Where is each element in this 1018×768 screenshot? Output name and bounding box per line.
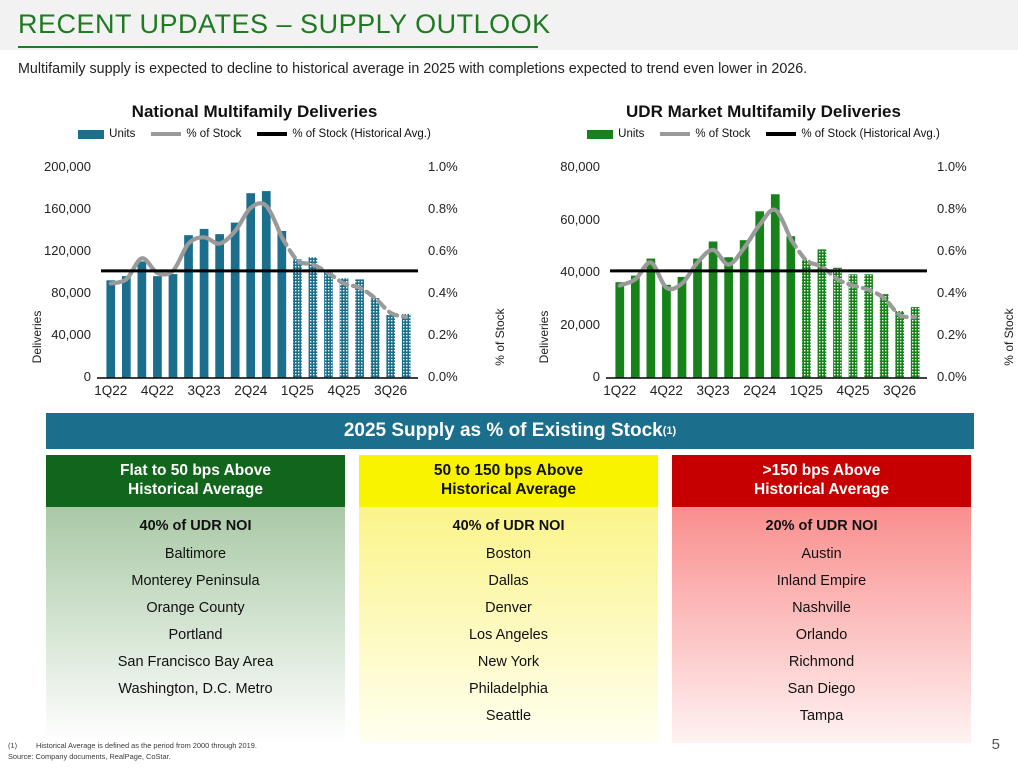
bar (802, 260, 811, 378)
y2-axis-tick-label: 0.6% (428, 243, 458, 258)
market-item: Richmond (672, 649, 971, 676)
bar (647, 259, 656, 378)
chart-panel-national: National Multifamily Deliveries Units % … (0, 100, 509, 396)
market-item: Los Angeles (359, 622, 658, 649)
footnote-body: Historical Average is defined as the per… (36, 741, 257, 750)
bar (277, 231, 286, 378)
bar (880, 294, 889, 378)
bar (184, 235, 193, 378)
market-item: Denver (359, 595, 658, 622)
column-noi-share: 40% of UDR NOI (46, 518, 345, 534)
market-item: Portland (46, 622, 345, 649)
market-list: BostonDallasDenverLos AngelesNew YorkPhi… (359, 541, 658, 730)
y2-axis-tick-label: 0.0% (428, 369, 458, 384)
column-body-green: 40% of UDR NOI BaltimoreMonterey Peninsu… (46, 507, 345, 743)
bar (678, 277, 687, 378)
y2-axis-tick-label: 0.6% (937, 243, 967, 258)
y2-axis-tick-label: 0.0% (937, 369, 967, 384)
bar (231, 223, 240, 378)
y2-axis-tick-label: 1.0% (428, 159, 458, 174)
bar (631, 276, 640, 378)
market-item: Inland Empire (672, 568, 971, 595)
y-axis-tick-label: 20,000 (509, 317, 600, 332)
bar (340, 278, 349, 378)
market-item: New York (359, 649, 658, 676)
bar (106, 280, 115, 378)
market-item: Monterey Peninsula (46, 568, 345, 595)
bar (895, 311, 904, 378)
column-header-line2: Historical Average (128, 481, 263, 500)
supply-banner-superscript: (1) (663, 425, 676, 437)
market-item: Tampa (672, 703, 971, 730)
bar (293, 259, 302, 378)
column-noi-share: 20% of UDR NOI (672, 518, 971, 534)
bar (215, 234, 224, 378)
market-item: San Francisco Bay Area (46, 649, 345, 676)
market-list: AustinInland EmpireNashvilleOrlandoRichm… (672, 541, 971, 730)
bar (615, 282, 624, 378)
y-axis-tick-label: 120,000 (0, 243, 91, 258)
bar (709, 242, 718, 379)
column-body-yellow: 40% of UDR NOI BostonDallasDenverLos Ang… (359, 507, 658, 743)
x-axis-tick-label: 3Q26 (870, 383, 930, 398)
market-item: San Diego (672, 676, 971, 703)
y2-axis-tick-label: 0.4% (428, 285, 458, 300)
column-header-green: Flat to 50 bps Above Historical Average (46, 455, 345, 507)
bar (262, 191, 271, 378)
bar (371, 298, 380, 378)
supply-column-yellow: 50 to 150 bps Above Historical Average 4… (359, 455, 658, 743)
market-item: Austin (672, 541, 971, 568)
bar (324, 271, 333, 378)
column-header-line1: Flat to 50 bps Above (120, 462, 271, 481)
y-axis-tick-label: 0 (509, 369, 600, 384)
pct-of-stock-line (620, 210, 791, 289)
y2-axis-tick-label: 0.4% (937, 285, 967, 300)
bar (786, 236, 795, 378)
column-header-line1: >150 bps Above (763, 462, 881, 481)
bar (740, 240, 749, 378)
market-item: Baltimore (46, 541, 345, 568)
chart-panel-udr: UDR Market Multifamily Deliveries Units … (509, 100, 1018, 396)
market-item: Dallas (359, 568, 658, 595)
market-item: Orange County (46, 595, 345, 622)
market-item: Orlando (672, 622, 971, 649)
y2-axis-tick-label: 0.8% (428, 201, 458, 216)
bar (355, 279, 364, 378)
y-axis-tick-label: 0 (0, 369, 91, 384)
market-list: BaltimoreMonterey PeninsulaOrange County… (46, 541, 345, 703)
column-header-red: >150 bps Above Historical Average (672, 455, 971, 507)
y-axis-tick-label: 200,000 (0, 159, 91, 174)
bar (662, 285, 671, 378)
market-item: Washington, D.C. Metro (46, 676, 345, 703)
column-header-line2: Historical Average (754, 481, 889, 500)
y-axis-tick-label: 60,000 (509, 212, 600, 227)
y-axis-tick-label: 40,000 (0, 327, 91, 342)
bar (138, 261, 147, 378)
supply-banner: 2025 Supply as % of Existing Stock(1) (46, 413, 974, 449)
footnote-source: Source: Company documents, RealPage, CoS… (8, 752, 171, 761)
bar (849, 274, 858, 378)
market-item: Nashville (672, 595, 971, 622)
y-axis-tick-label: 40,000 (509, 264, 600, 279)
bar (402, 314, 411, 378)
slide-subtitle: Multifamily supply is expected to declin… (18, 61, 1003, 77)
page-number: 5 (992, 736, 1000, 753)
y-axis-tick-label: 160,000 (0, 201, 91, 216)
bar (200, 229, 209, 378)
title-band: RECENT UPDATES – SUPPLY OUTLOOK (0, 0, 1018, 50)
bar (771, 194, 780, 378)
footnote-historical-average: (1)Historical Average is defined as the … (8, 741, 257, 750)
y2-axis-tick-label: 0.8% (937, 201, 967, 216)
bar (755, 211, 764, 378)
column-header-yellow: 50 to 150 bps Above Historical Average (359, 455, 658, 507)
bar (122, 276, 131, 378)
column-header-line1: 50 to 150 bps Above (434, 462, 583, 481)
bar (724, 257, 733, 378)
supply-banner-label: 2025 Supply as % of Existing Stock (344, 420, 663, 442)
bar (169, 274, 178, 378)
bar (246, 193, 255, 378)
market-item: Seattle (359, 703, 658, 730)
page-title: RECENT UPDATES – SUPPLY OUTLOOK (18, 9, 551, 40)
bar (386, 315, 395, 378)
column-body-red: 20% of UDR NOI AustinInland EmpireNashvi… (672, 507, 971, 743)
column-header-line2: Historical Average (441, 481, 576, 500)
supply-column-red: >150 bps Above Historical Average 20% of… (672, 455, 971, 743)
supply-column-green: Flat to 50 bps Above Historical Average … (46, 455, 345, 743)
footnote-marker: (1) (8, 741, 36, 750)
column-noi-share: 40% of UDR NOI (359, 518, 658, 534)
x-axis-tick-label: 3Q26 (361, 383, 421, 398)
y2-axis-tick-label: 0.2% (428, 327, 458, 342)
market-item: Boston (359, 541, 658, 568)
bar (833, 268, 842, 378)
bar (153, 276, 162, 378)
y-axis-tick-label: 80,000 (509, 159, 600, 174)
title-underline (18, 46, 538, 48)
market-item: Philadelphia (359, 676, 658, 703)
bar (693, 259, 702, 378)
y2-axis-tick-label: 1.0% (937, 159, 967, 174)
y2-axis-tick-label: 0.2% (937, 327, 967, 342)
bar (309, 257, 318, 378)
y-axis-tick-label: 80,000 (0, 285, 91, 300)
